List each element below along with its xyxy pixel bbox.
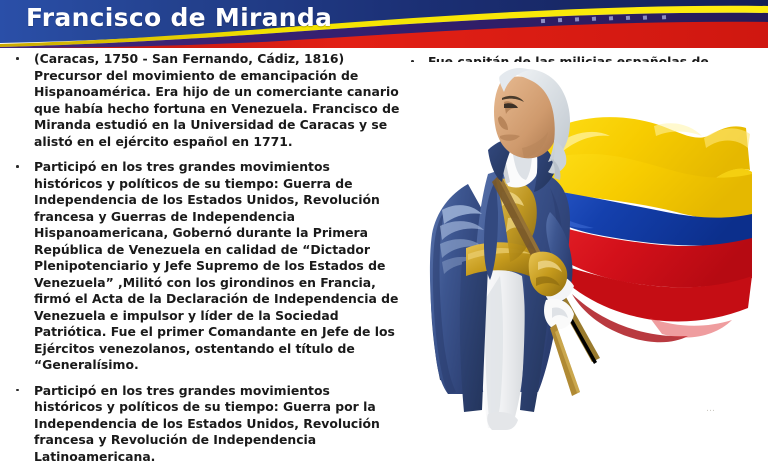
miranda-illustration (404, 62, 768, 433)
left-text-column: (Caracas, 1750 - San Fernando, Cádiz, 18… (8, 51, 402, 474)
left-bullet-list: (Caracas, 1750 - San Fernando, Cádiz, 18… (8, 51, 402, 465)
bullet-dot-icon (16, 165, 19, 168)
bullet-text: Participó en los tres grandes movimiento… (34, 383, 380, 464)
bullet-text: Participó en los tres grandes movimiento… (34, 159, 398, 372)
list-item: (Caracas, 1750 - San Fernando, Cádiz, 18… (8, 51, 402, 150)
miranda-flag-artwork (404, 62, 768, 433)
page-title: Francisco de Miranda (26, 3, 332, 32)
bullet-text: (Caracas, 1750 - San Fernando, Cádiz, 18… (34, 51, 399, 149)
bullet-dot-icon (16, 389, 19, 392)
bullet-dot-icon (16, 57, 19, 60)
list-item: Participó en los tres grandes movimiento… (8, 383, 402, 466)
list-item: Participó en los tres grandes movimiento… (8, 159, 402, 374)
slide-header-banner: Francisco de Miranda (0, 0, 768, 48)
watermark: … (706, 404, 758, 426)
